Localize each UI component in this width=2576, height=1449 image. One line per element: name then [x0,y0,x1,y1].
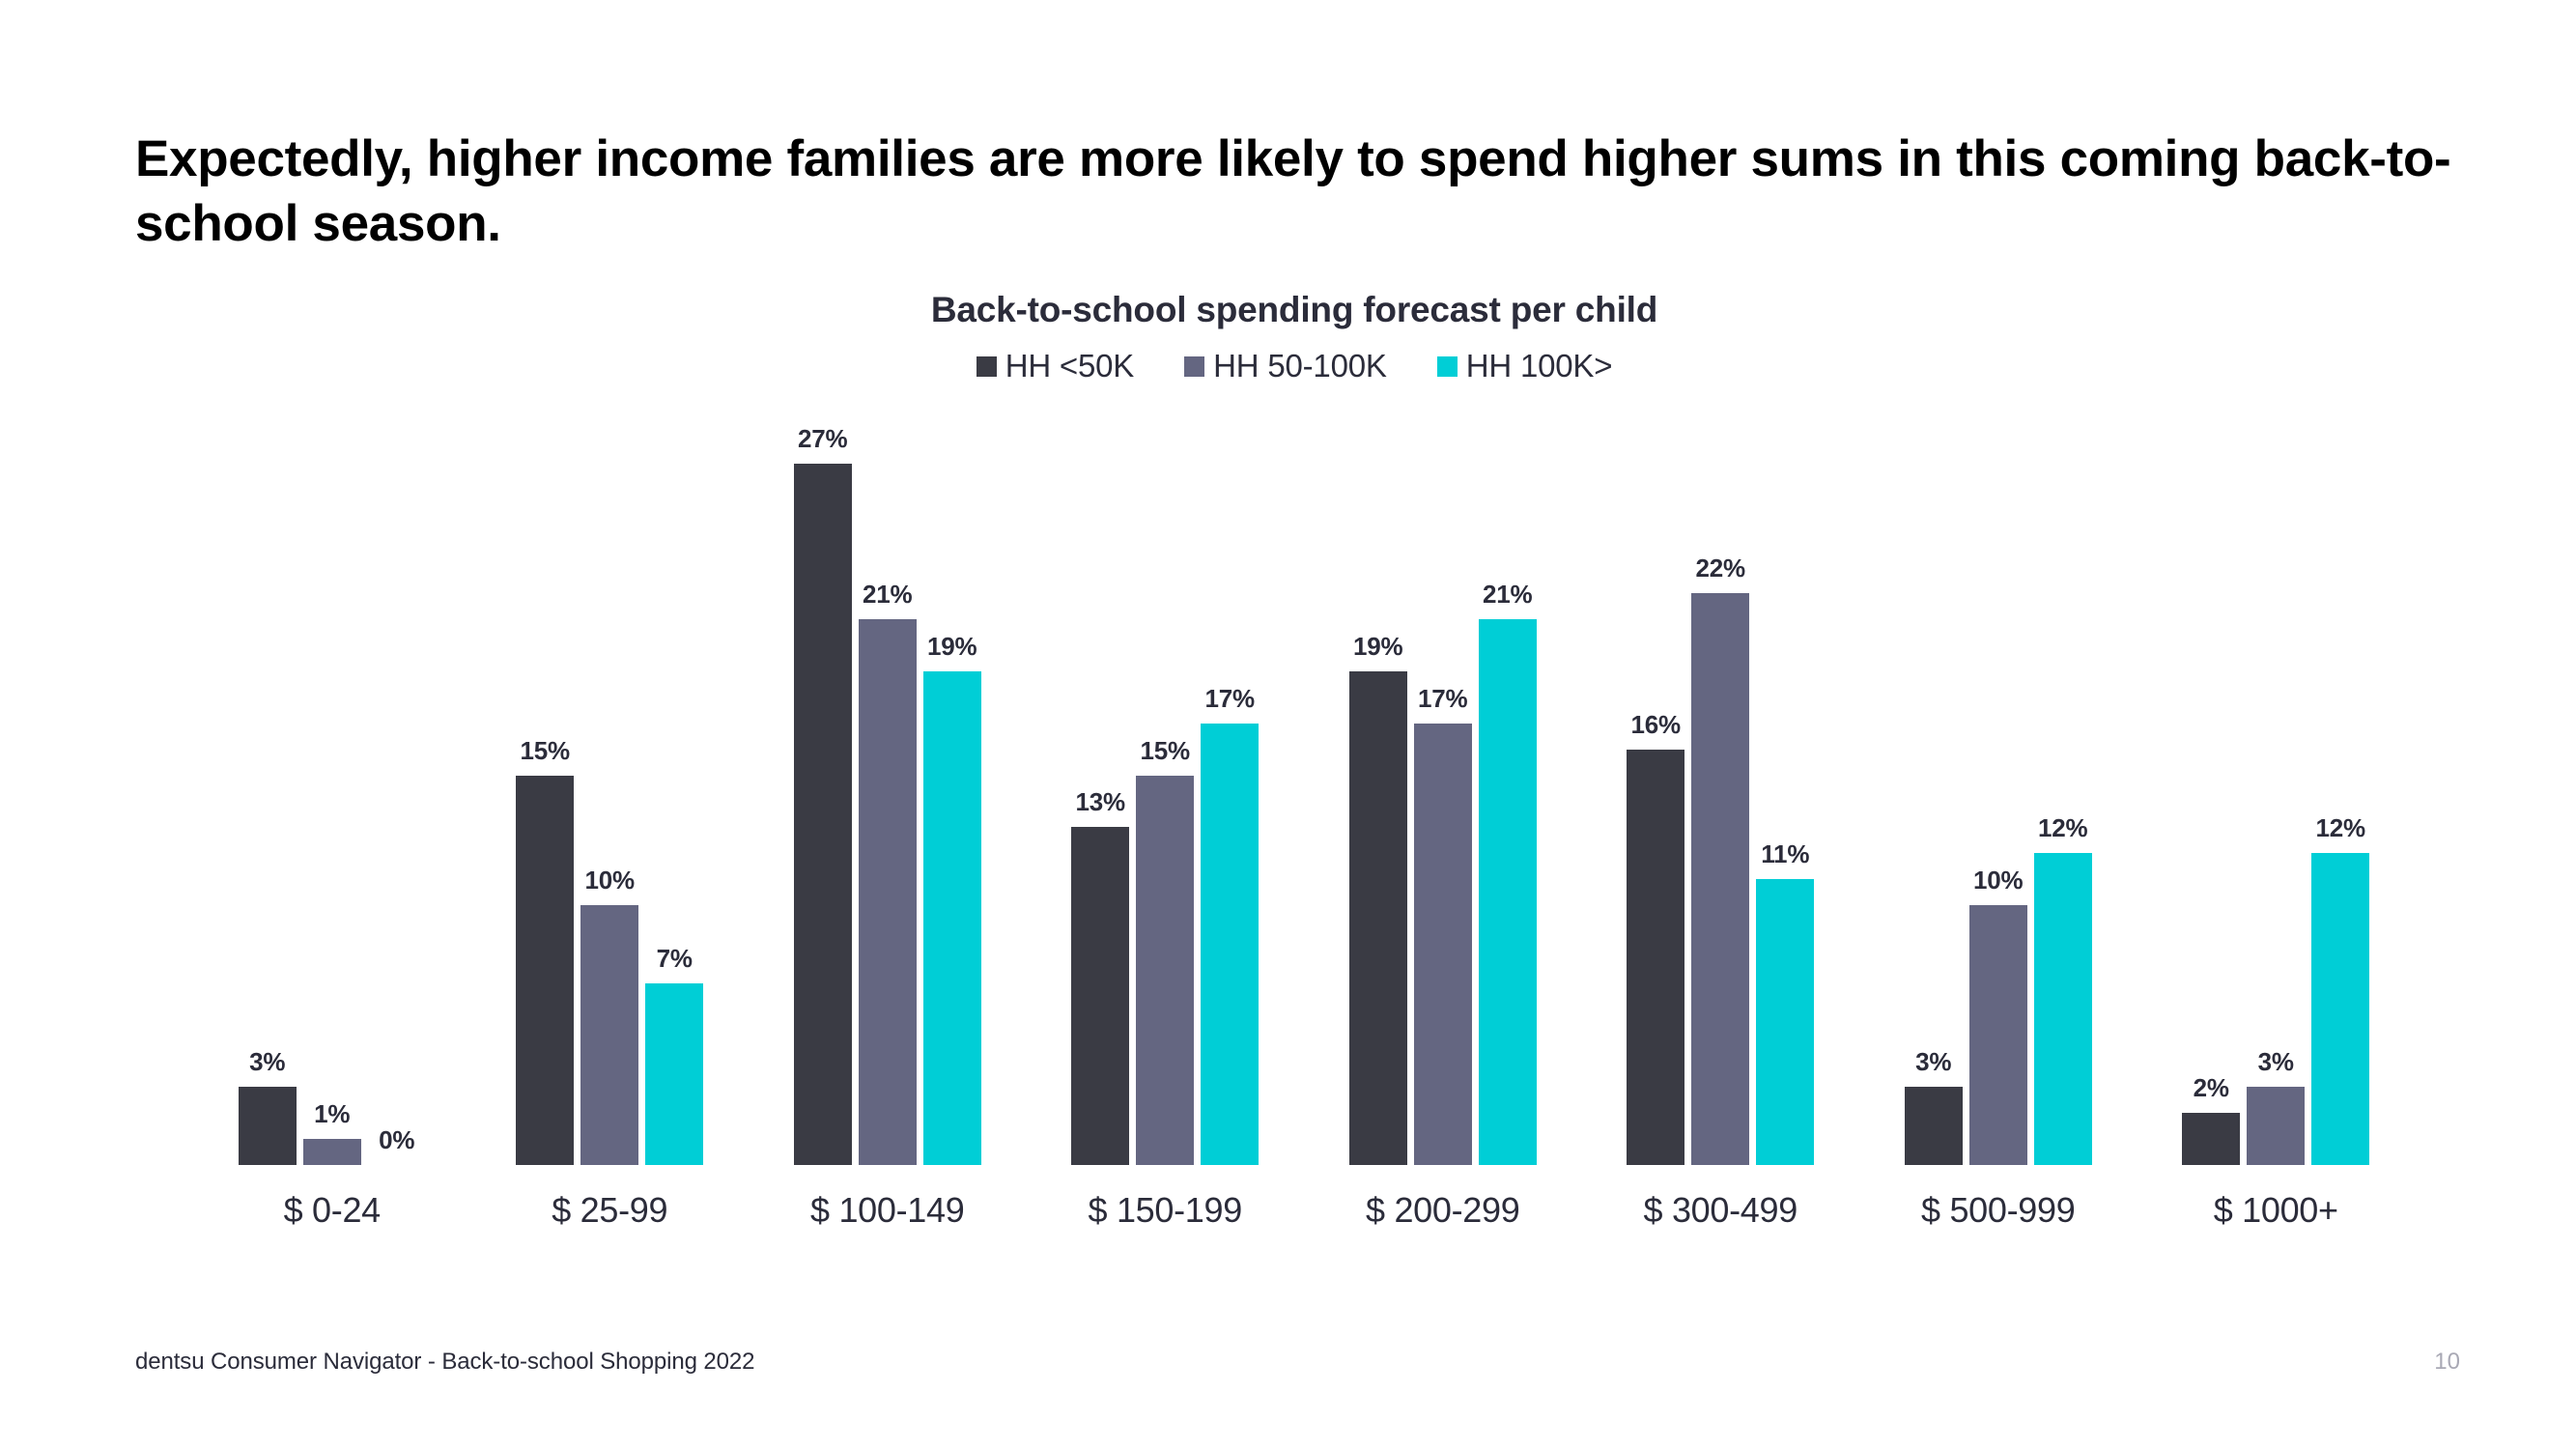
bar-column[interactable]: 3% [1905,429,1963,1165]
slide-title: Expectedly, higher income families are m… [135,127,2453,258]
legend-item-2[interactable]: HH 50-100K [1184,348,1387,384]
footer-source: dentsu Consumer Navigator - Back-to-scho… [135,1349,754,1376]
bar-group: 15%10%7%$ 25-99 [471,429,750,1231]
bar-value-label: 21% [863,580,912,610]
bar-group-bars: 3%10%12% [1905,429,2092,1165]
bar-column[interactable]: 12% [2034,429,2092,1165]
x-axis-category-label: $ 0-24 [284,1190,381,1231]
bar-rect[interactable] [1071,827,1129,1165]
bar-rect[interactable] [1201,724,1259,1165]
x-axis-category-label: $ 200-299 [1366,1190,1519,1231]
bar-column[interactable]: 17% [1201,429,1259,1165]
bar-value-label: 11% [1761,839,1809,869]
bar-rect[interactable] [1627,750,1684,1165]
bar-group-bars: 3%1%0% [239,429,426,1165]
bar-group: 27%21%19%$ 100-149 [749,429,1027,1231]
bar-column[interactable]: 2% [2182,429,2240,1165]
bar-column[interactable]: 15% [1136,429,1194,1165]
legend-swatch-icon [1437,356,1458,377]
bar-rect[interactable] [303,1139,361,1165]
bar-value-label: 3% [2258,1047,2294,1077]
bar-rect[interactable] [1756,879,1814,1165]
x-axis-category-label: $ 100-149 [810,1190,964,1231]
x-axis-category-label: $ 500-999 [1921,1190,2075,1231]
bar-column[interactable]: 16% [1627,429,1684,1165]
bar-group-bars: 19%17%21% [1349,429,1537,1165]
bar-value-label: 15% [1141,736,1190,766]
bar-value-label: 12% [2038,813,2087,843]
bar-column[interactable]: 10% [580,429,638,1165]
x-axis-category-label: $ 25-99 [552,1190,667,1231]
bar-rect[interactable] [859,619,917,1165]
bar-column[interactable]: 12% [2311,429,2369,1165]
bar-value-label: 7% [657,944,693,974]
bar-group: 2%3%12%$ 1000+ [2137,429,2416,1231]
bar-group: 3%10%12%$ 500-999 [1859,429,2137,1231]
bar-value-label: 10% [585,866,635,895]
bar-group: 13%15%17%$ 150-199 [1027,429,1305,1231]
bar-value-label: 3% [249,1047,285,1077]
bar-value-label: 13% [1076,787,1125,817]
bar-rect[interactable] [2311,853,2369,1165]
bar-column[interactable]: 21% [1479,429,1537,1165]
bar-value-label: 17% [1205,684,1255,714]
bar-value-label: 22% [1696,554,1745,583]
bar-column[interactable]: 27% [794,424,852,1165]
bar-column[interactable]: 3% [2247,429,2305,1165]
legend-swatch-icon [1184,356,1204,377]
bar-group: 16%22%11%$ 300-499 [1582,429,1860,1231]
bar-group-bars: 13%15%17% [1071,429,1259,1165]
bar-value-label: 19% [1353,632,1402,662]
bar-column[interactable]: 0% [368,429,426,1165]
bar-rect[interactable] [516,776,574,1165]
bar-rect[interactable] [794,464,852,1165]
legend-swatch-icon [977,356,997,377]
bar-rect[interactable] [1479,619,1537,1165]
legend-label: HH 100K> [1466,348,1613,384]
bar-rect[interactable] [580,905,638,1165]
bar-rect[interactable] [645,983,703,1165]
bar-column[interactable]: 21% [859,424,917,1165]
chart-legend: HH <50KHH 50-100KHH 100K> [135,348,2453,384]
bar-rect[interactable] [2247,1087,2305,1165]
bar-column[interactable]: 17% [1414,429,1472,1165]
bar-column[interactable]: 15% [516,429,574,1165]
chart-title: Back-to-school spending forecast per chi… [135,290,2453,330]
x-axis-category-label: $ 150-199 [1089,1190,1242,1231]
legend-label: HH 50-100K [1213,348,1387,384]
bar-column[interactable]: 11% [1756,429,1814,1165]
x-axis-category-label: $ 1000+ [2214,1190,2338,1231]
bar-column[interactable]: 13% [1071,429,1129,1165]
legend-item-1[interactable]: HH <50K [977,348,1134,384]
bar-column[interactable]: 22% [1691,429,1749,1165]
bar-value-label: 2% [2194,1073,2229,1103]
bar-group-bars: 16%22%11% [1627,429,1814,1165]
bar-rect[interactable] [239,1087,297,1165]
bar-rect[interactable] [1969,905,2027,1165]
bar-column[interactable]: 10% [1969,429,2027,1165]
bar-value-label: 3% [1915,1047,1951,1077]
bar-rect[interactable] [2182,1113,2240,1165]
bar-group-bars: 2%3%12% [2182,429,2369,1165]
bar-column[interactable]: 19% [1349,429,1407,1165]
bar-group: 19%17%21%$ 200-299 [1304,429,1582,1231]
bar-rect[interactable] [1905,1087,1963,1165]
bar-rect[interactable] [1349,671,1407,1165]
bar-column[interactable]: 1% [303,429,361,1165]
chart-plot-area: 3%1%0%$ 0-2415%10%7%$ 25-9927%21%19%$ 10… [135,429,2453,1231]
bar-value-label: 15% [521,736,570,766]
bar-group: 3%1%0%$ 0-24 [193,429,471,1231]
legend-item-3[interactable]: HH 100K> [1437,348,1613,384]
bar-rect[interactable] [2034,853,2092,1165]
bar-value-label: 16% [1631,710,1681,740]
bar-value-label: 27% [798,424,847,454]
page-number: 10 [2434,1349,2460,1376]
bar-column[interactable]: 3% [239,429,297,1165]
bar-value-label: 19% [927,632,977,662]
bar-value-label: 21% [1483,580,1532,610]
bar-rect[interactable] [1136,776,1194,1165]
x-axis-category-label: $ 300-499 [1644,1190,1798,1231]
bar-rect[interactable] [923,671,981,1165]
bar-column[interactable]: 7% [645,429,703,1165]
legend-label: HH <50K [1005,348,1134,384]
bar-rect[interactable] [1414,724,1472,1165]
bar-value-label: 17% [1418,684,1467,714]
bar-value-label: 10% [1973,866,2023,895]
bar-column[interactable]: 19% [923,424,981,1165]
bar-value-label: 0% [379,1125,414,1155]
bar-group-bars: 15%10%7% [516,429,703,1165]
bar-value-label: 12% [2316,813,2365,843]
bar-chart: Back-to-school spending forecast per chi… [135,290,2453,1314]
bar-rect[interactable] [1691,593,1749,1165]
bar-group-bars: 27%21%19% [794,424,981,1165]
bar-value-label: 1% [314,1099,350,1129]
